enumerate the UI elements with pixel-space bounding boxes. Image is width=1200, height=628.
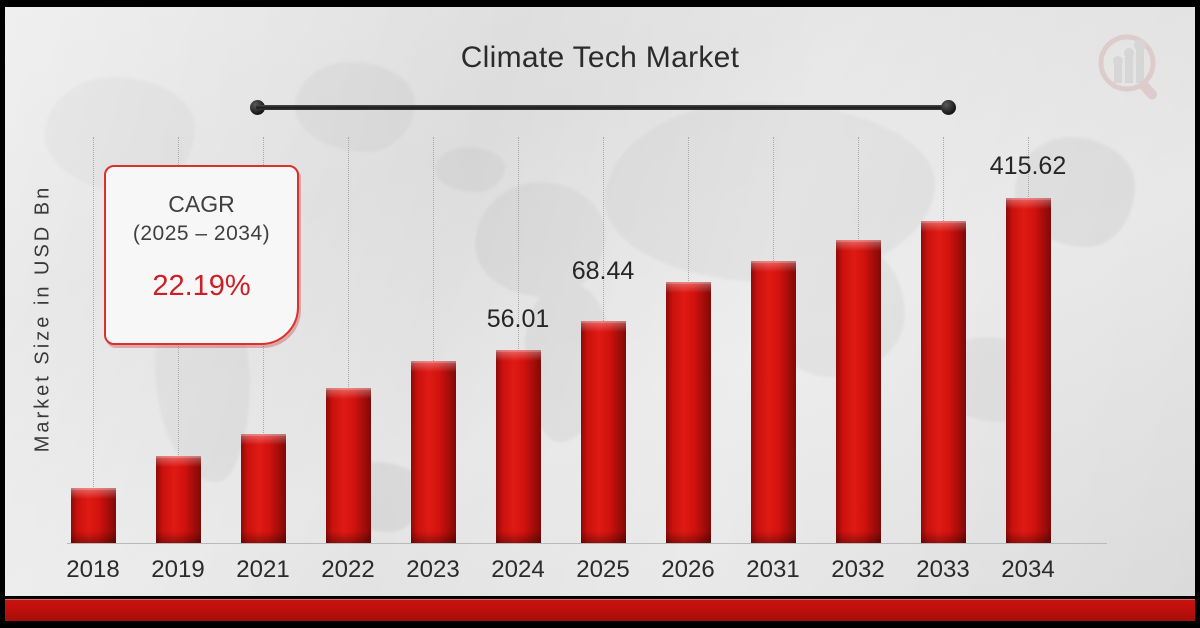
bar-2025[interactable] — [581, 321, 626, 543]
footer-accent-strip — [5, 599, 1195, 621]
data-label-2034: 415.62 — [953, 152, 1103, 181]
cagr-range: (2025 – 2034) — [133, 220, 270, 248]
bar-2034[interactable] — [1006, 198, 1051, 543]
bar-2024[interactable] — [496, 350, 541, 543]
bar-2018[interactable] — [71, 488, 116, 543]
data-label-2024: 56.01 — [443, 305, 593, 334]
axis-baseline — [67, 543, 1107, 544]
bar-2022[interactable] — [326, 388, 371, 543]
cagr-callout: CAGR (2025 – 2034) 22.19% — [104, 165, 299, 345]
bar-2033[interactable] — [921, 221, 966, 543]
x-tick-2034: 2034 — [978, 556, 1078, 584]
chart-frame: Climate Tech Market Market Size in USD B… — [0, 0, 1200, 628]
bar-2031[interactable] — [751, 261, 796, 543]
chart-panel: Climate Tech Market Market Size in USD B… — [5, 7, 1195, 596]
data-label-2025: 68.44 — [528, 257, 678, 286]
bar-2026[interactable] — [666, 282, 711, 543]
bar-2023[interactable] — [411, 361, 456, 543]
gridline — [93, 137, 94, 543]
bar-2019[interactable] — [156, 456, 201, 543]
cagr-label: CAGR — [168, 191, 234, 218]
cagr-value: 22.19% — [152, 270, 250, 303]
bar-2032[interactable] — [836, 240, 881, 543]
bar-2021[interactable] — [241, 434, 286, 543]
